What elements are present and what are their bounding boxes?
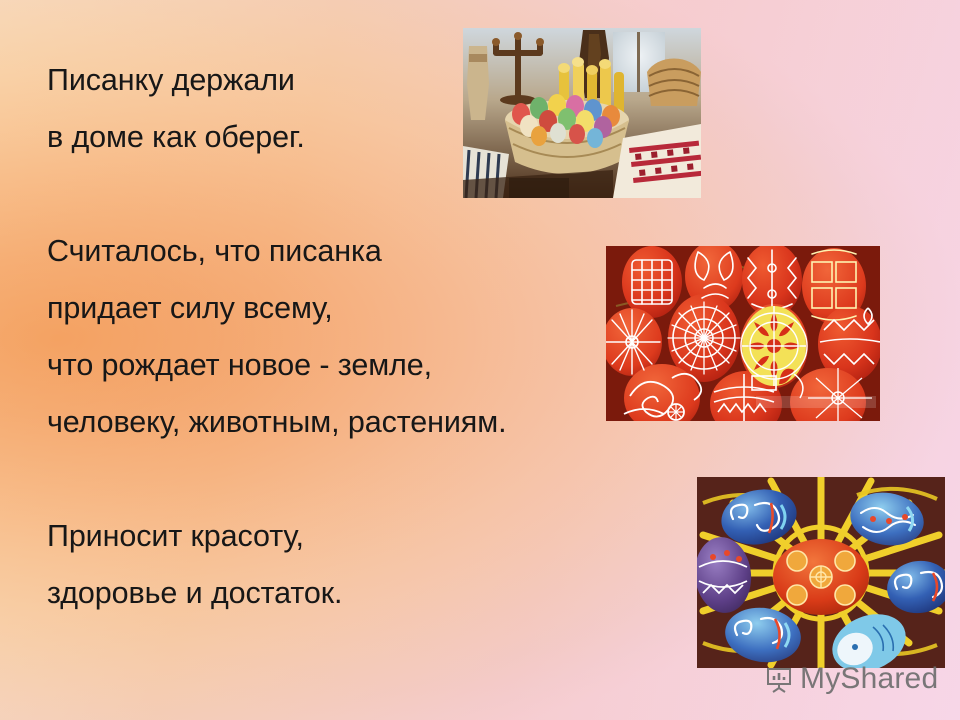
- text-line: придает силу всему,: [47, 280, 687, 337]
- text-line: Считалось, что писанка: [47, 223, 687, 280]
- watermark-label: MyShared: [800, 662, 938, 696]
- watermark: MyShared: [765, 662, 938, 696]
- paragraph-2: Считалось, что писанка придает силу всем…: [47, 223, 687, 451]
- presentation-chart-icon: [765, 665, 793, 693]
- paragraph-3: Приносит красоту, здоровье и достаток.: [47, 508, 687, 622]
- text-line: Приносит красоту,: [47, 508, 687, 565]
- photo-red-pysanky-eggs: [606, 246, 880, 421]
- paragraph-spacer: [47, 451, 687, 508]
- text-line: здоровье и достаток.: [47, 565, 687, 622]
- text-line: что рождает новое - земле,: [47, 337, 687, 394]
- presentation-slide: Писанку держали в доме как оберег. Счита…: [0, 0, 960, 720]
- photo-blue-pysanky-on-yellow-cloth: [697, 477, 945, 668]
- text-line: человеку, животным, растениям.: [47, 394, 687, 451]
- photo-easter-table-with-pysanky-baskets: [463, 28, 701, 198]
